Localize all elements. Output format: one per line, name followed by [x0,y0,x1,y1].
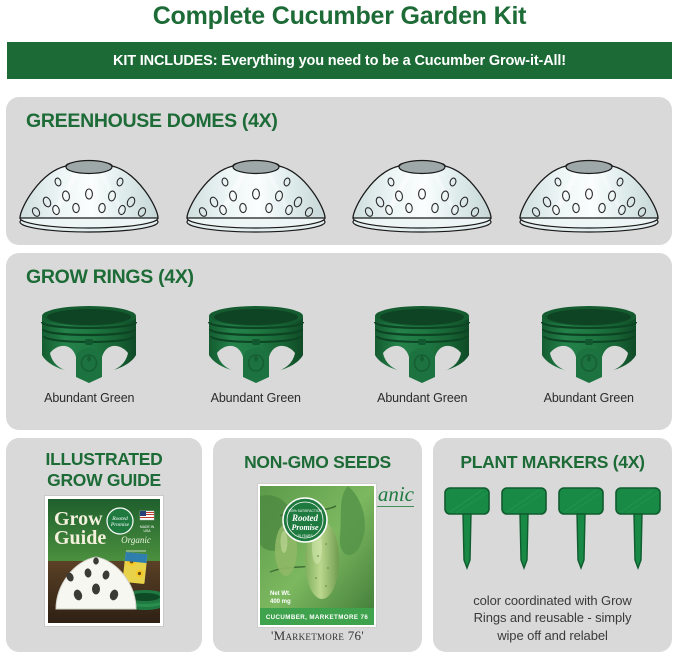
ring-color-label: Abundant Green [347,391,497,405]
page-title: Complete Cucumber Garden Kit [0,2,679,31]
grow-ring-icon [195,295,317,390]
marker-note-line2: Rings and reusable - simply [443,609,662,627]
kit-includes-banner: KIT INCLUDES: Everything you need to be … [7,42,672,79]
ring-row: Abundant Green A [6,295,672,425]
kit-includes-text: KIT INCLUDES: Everything you need to be … [113,53,566,69]
grow-ring-item: Abundant Green [347,295,497,405]
grow-ring-item: Abundant Green [514,295,664,405]
plant-marker-icon [556,486,606,578]
panel-grow-guide: ILLUSTRATED GROW GUIDE Grow Guide [6,438,202,652]
svg-text:Guide: Guide [54,527,106,549]
svg-text:Promise: Promise [291,523,319,532]
greenhouse-dome-icon [514,152,664,234]
ring-color-label: Abundant Green [14,391,164,405]
svg-text:Promise: Promise [110,522,130,528]
grow-guide-cover-illustration: Grow Guide Rooted Promise MADE IN USA Or… [48,499,160,623]
ring-color-label: Abundant Green [514,391,664,405]
greenhouse-dome-icon [181,152,331,234]
guide-title-line1: ILLUSTRATED [6,449,202,470]
grow-ring-item: Abundant Green [14,295,164,405]
marker-row [433,486,672,586]
greenhouse-dome-icon [14,152,164,234]
seed-packet: 100% SATISFACTION Rooted Promise 25 YEAR… [257,483,377,628]
dome-row [6,145,672,240]
guide-title-line2: GROW GUIDE [6,470,202,491]
net-weight-line1: Net Wt. [270,591,291,597]
marker-note: color coordinated with Grow Rings and re… [443,592,662,645]
section-title-domes: GREENHOUSE DOMES (4X) [26,110,278,133]
svg-text:Organic: Organic [121,535,151,545]
panel-greenhouse-domes: GREENHOUSE DOMES (4X) [6,97,672,245]
panel-non-gmo-seeds: NON-GMO SEEDS Organic [213,438,422,652]
plant-marker-icon [499,486,549,578]
svg-text:USA: USA [144,529,152,533]
svg-text:Rooted: Rooted [291,513,318,523]
marker-note-line3: wipe off and relabel [443,627,662,645]
grow-ring-icon [28,295,150,390]
packet-footer-text: CUCUMBER, MARKETMORE 76 [266,614,369,621]
plant-marker-icon [442,486,492,578]
plant-marker-icon [613,486,663,578]
panel-plant-markers: PLANT MARKERS (4X) [433,438,672,652]
section-title-seeds: NON-GMO SEEDS [213,452,422,473]
section-title-markers: PLANT MARKERS (4X) [433,452,672,473]
net-weight-line2: 400 mg [270,599,291,605]
panel-grow-rings: GROW RINGS (4X) [6,253,672,430]
seed-variety-caption: 'Marketmore 76' [213,628,422,644]
seed-packet-illustration: 100% SATISFACTION Rooted Promise 25 YEAR… [260,486,374,625]
grow-ring-icon [528,295,650,390]
greenhouse-dome-icon [347,152,497,234]
marker-note-line1: color coordinated with Grow [443,592,662,610]
grow-ring-icon [361,295,483,390]
product-infographic: Complete Cucumber Garden Kit KIT INCLUDE… [0,0,679,657]
grow-guide-booklet: Grow Guide Rooted Promise MADE IN USA Or… [44,495,164,627]
section-title-rings: GROW RINGS (4X) [26,266,194,289]
grow-ring-item: Abundant Green [181,295,331,405]
svg-text:25 YEARS: 25 YEARS [297,534,312,538]
ring-color-label: Abundant Green [181,391,331,405]
section-title-guide: ILLUSTRATED GROW GUIDE [6,449,202,491]
